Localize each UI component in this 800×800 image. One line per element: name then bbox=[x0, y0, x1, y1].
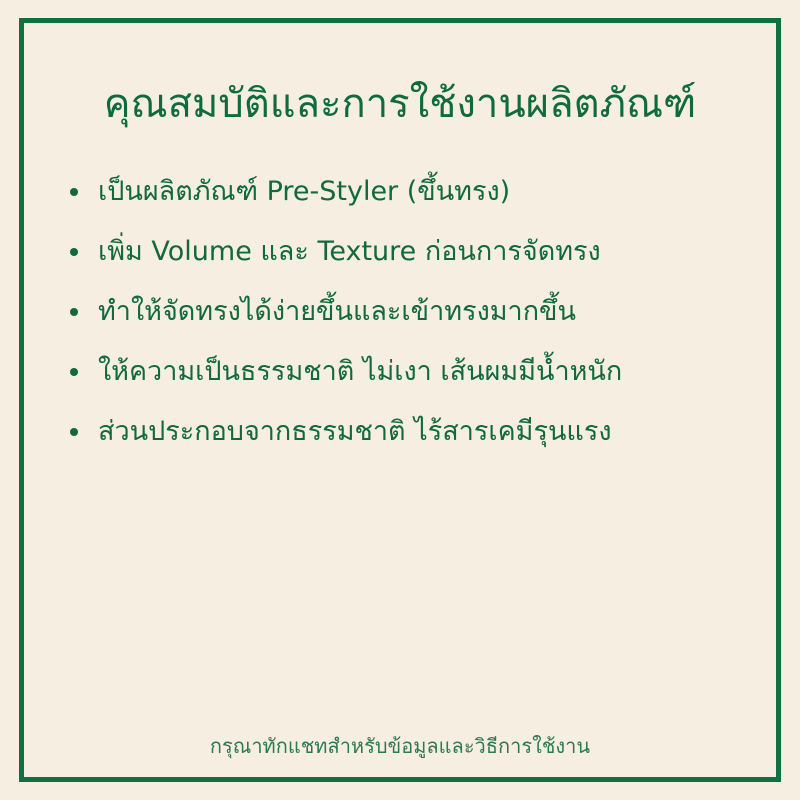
list-item-label: ให้ความเป็นธรรมชาติ ไม่เงา เส้นผมมีน้ำหน… bbox=[98, 342, 622, 402]
list-item: ส่วนประกอบจากธรรมชาติ ไร้สารเคมีรุนแรง bbox=[66, 402, 746, 462]
card-content: คุณสมบัติและการใช้งานผลิตภัณฑ์ เป็นผลิตภ… bbox=[0, 0, 800, 800]
page-title: คุณสมบัติและการใช้งานผลิตภัณฑ์ bbox=[60, 78, 740, 130]
list-item: ทำให้จัดทรงได้ง่ายขึ้นและเข้าทรงมากขึ้น bbox=[66, 282, 746, 342]
product-feature-card: คุณสมบัติและการใช้งานผลิตภัณฑ์ เป็นผลิตภ… bbox=[0, 0, 800, 800]
list-item-label: ทำให้จัดทรงได้ง่ายขึ้นและเข้าทรงมากขึ้น bbox=[98, 282, 576, 342]
list-item: เป็นผลิตภัณฑ์ Pre-Styler (ขึ้นทรง) bbox=[66, 162, 746, 222]
bullet-dot-icon bbox=[70, 428, 78, 436]
list-item-label: เพิ่ม Volume และ Texture ก่อนการจัดทรง bbox=[98, 222, 601, 282]
bullet-dot-icon bbox=[70, 368, 78, 376]
bullet-dot-icon bbox=[70, 308, 78, 316]
list-item: เพิ่ม Volume และ Texture ก่อนการจัดทรง bbox=[66, 222, 746, 282]
footer-note: กรุณาทักแชทสำหรับข้อมูลและวิธีการใช้งาน bbox=[60, 732, 740, 760]
list-item-label: ส่วนประกอบจากธรรมชาติ ไร้สารเคมีรุนแรง bbox=[98, 402, 612, 462]
bullet-dot-icon bbox=[70, 248, 78, 256]
list-item-label: เป็นผลิตภัณฑ์ Pre-Styler (ขึ้นทรง) bbox=[98, 162, 510, 222]
bullet-dot-icon bbox=[70, 188, 78, 196]
list-item: ให้ความเป็นธรรมชาติ ไม่เงา เส้นผมมีน้ำหน… bbox=[66, 342, 746, 402]
feature-list: เป็นผลิตภัณฑ์ Pre-Styler (ขึ้นทรง) เพิ่ม… bbox=[66, 162, 746, 462]
